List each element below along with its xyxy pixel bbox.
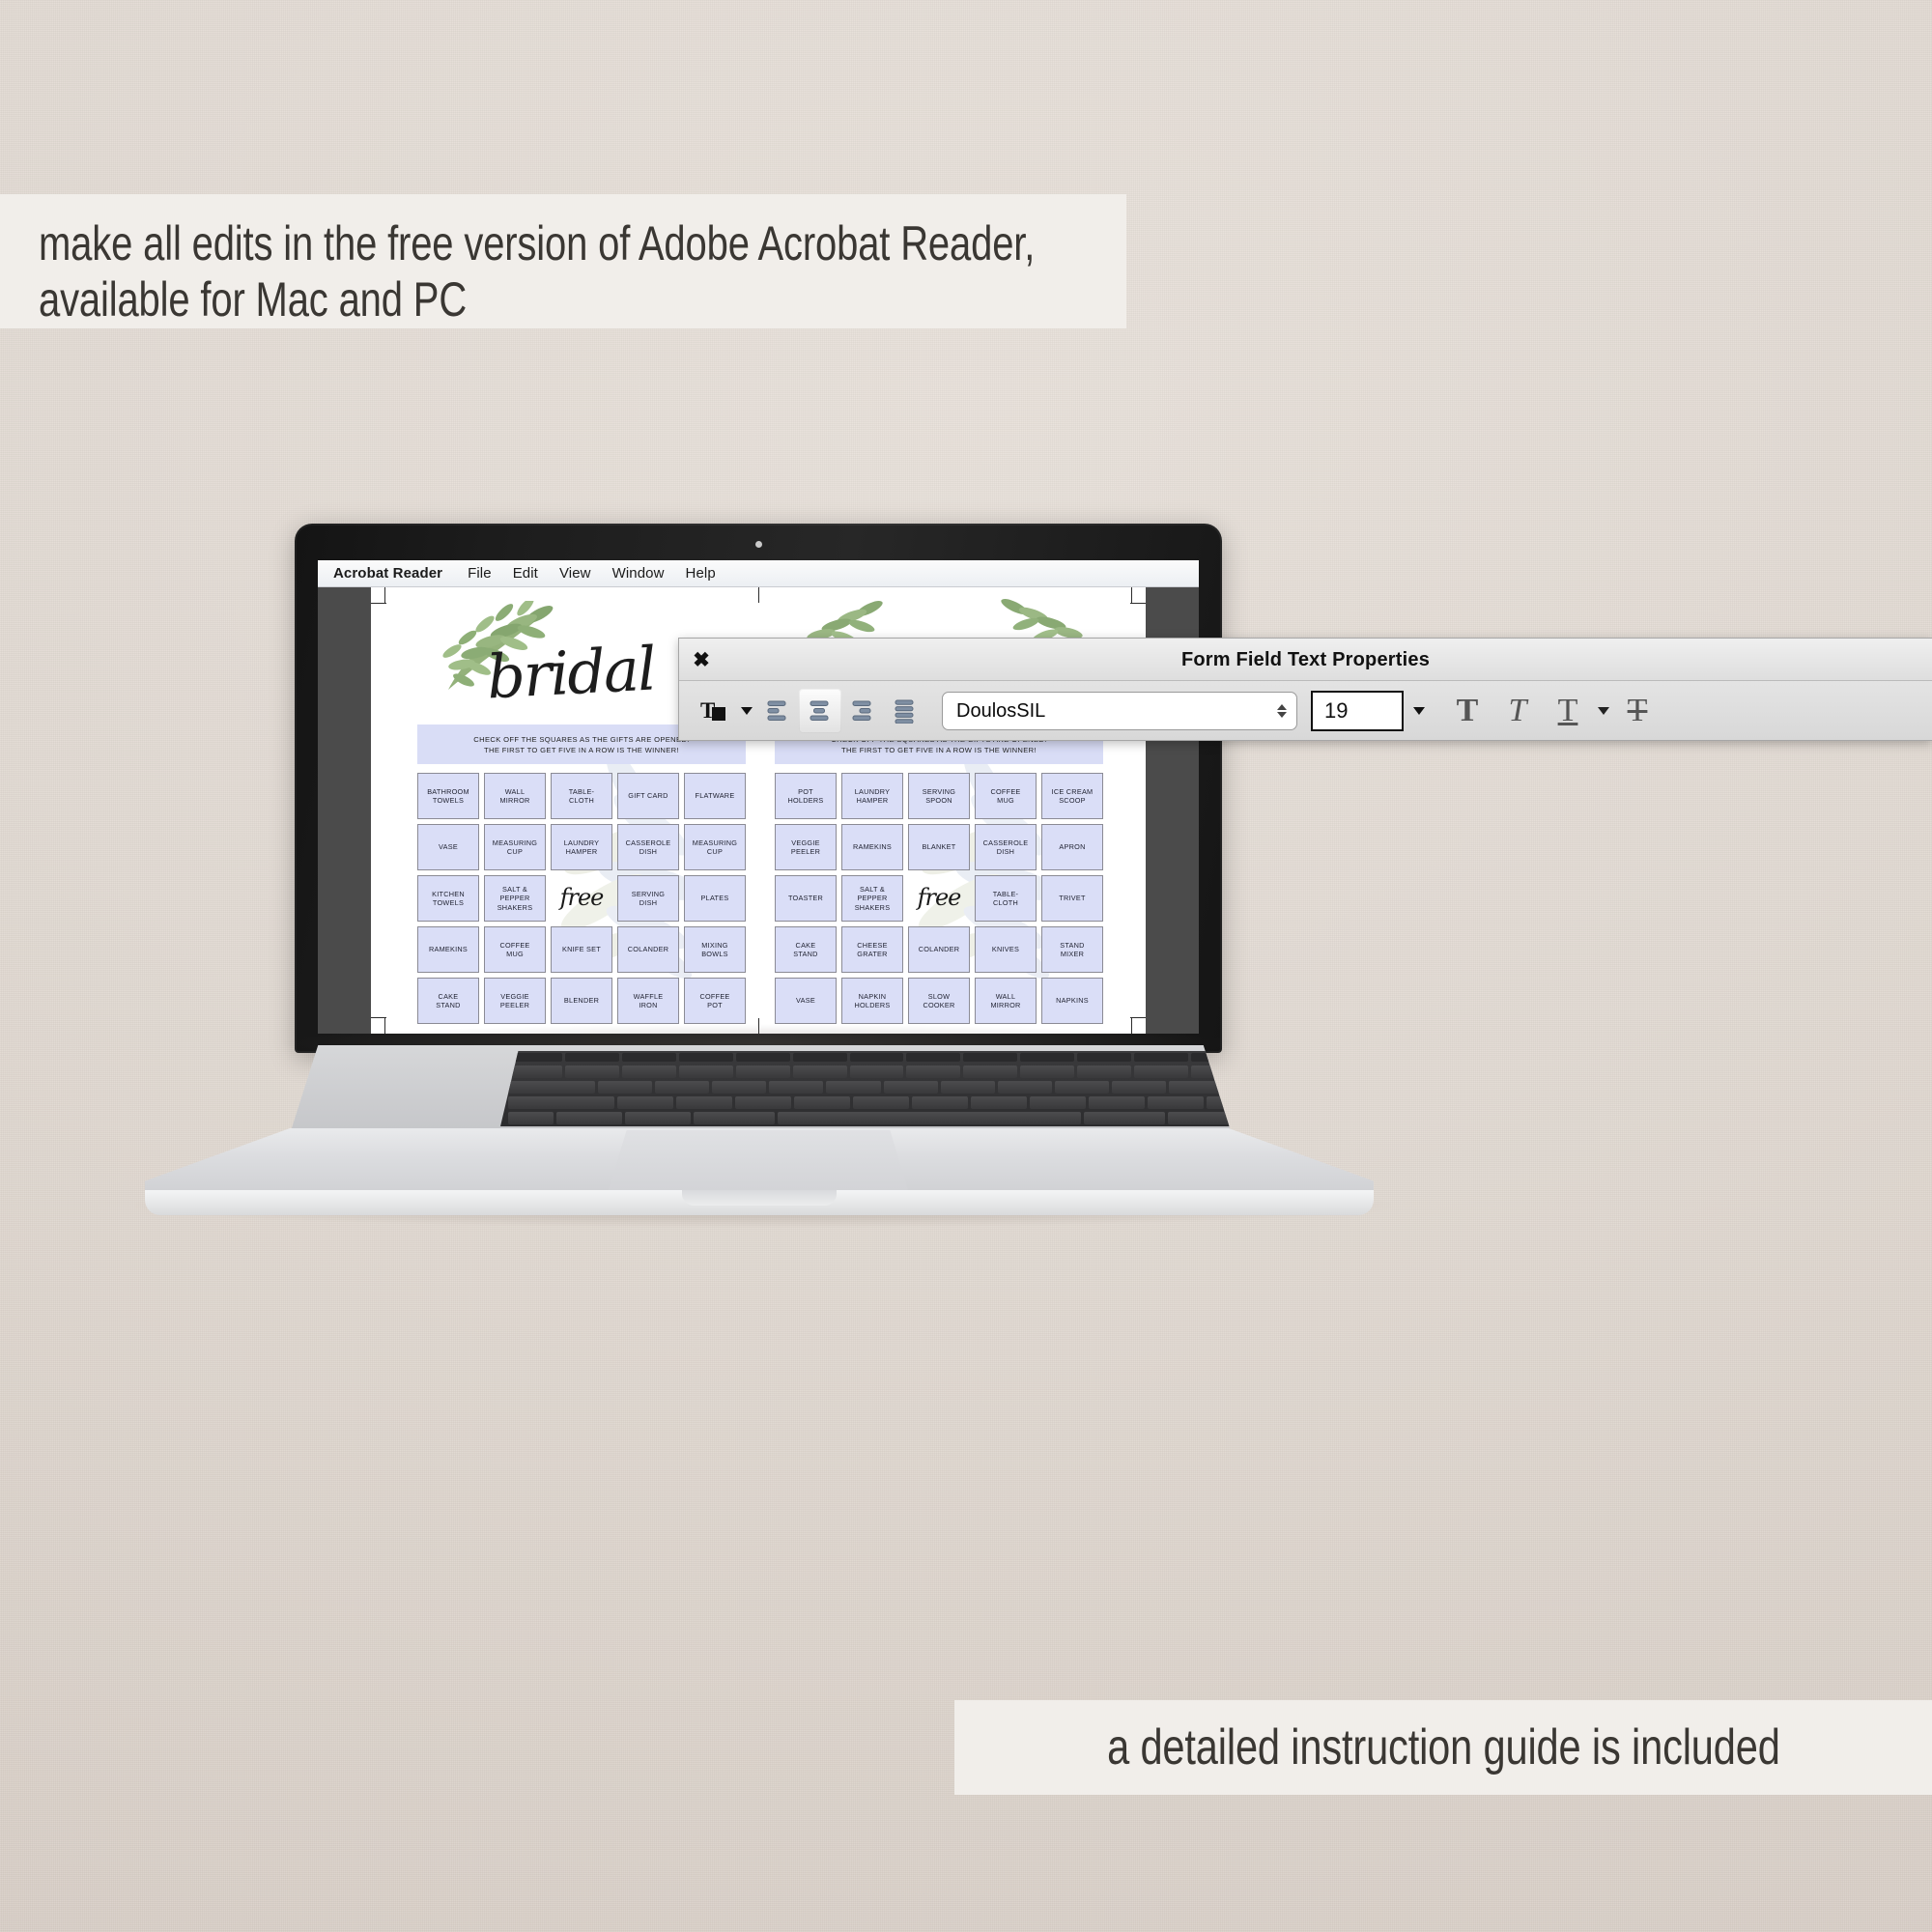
bingo-cell[interactable]: ICE CREAM SCOOP bbox=[1041, 773, 1103, 819]
bingo-cell-label: COFFEE MUG bbox=[499, 941, 529, 959]
bingo-cell-label: ICE CREAM SCOOP bbox=[1052, 787, 1094, 806]
bingo-cell[interactable]: WALL MIRROR bbox=[975, 978, 1037, 1024]
bingo-cell[interactable]: KITCHEN TOWELS bbox=[417, 875, 479, 922]
bingo-cell[interactable]: COLANDER bbox=[617, 926, 679, 973]
bingo-cell-label: CAKE STAND bbox=[436, 992, 460, 1010]
bingo-cell-label: CASSEROLE DISH bbox=[626, 838, 671, 857]
bingo-cell-label: BLENDER bbox=[564, 996, 599, 1005]
top-caption-banner: make all edits in the free version of Ad… bbox=[0, 194, 1126, 328]
bingo-cell[interactable]: POT HOLDERS bbox=[775, 773, 837, 819]
bingo-cell[interactable]: COLANDER bbox=[908, 926, 970, 973]
bingo-cell-label: VEGGIE PEELER bbox=[500, 992, 529, 1010]
bingo-cell-label: LAUNDRY HAMPER bbox=[855, 787, 891, 806]
align-justify-button[interactable] bbox=[884, 689, 926, 733]
bingo-cell[interactable]: TOASTER bbox=[775, 875, 837, 922]
font-size-dropdown-icon[interactable] bbox=[1413, 707, 1425, 715]
bingo-cell[interactable]: LAUNDRY HAMPER bbox=[841, 773, 903, 819]
bingo-cell-label: MEASURING CUP bbox=[693, 838, 737, 857]
bingo-cell-label: CASSEROLE DISH bbox=[983, 838, 1029, 857]
menu-item-file[interactable]: File bbox=[468, 565, 492, 582]
bingo-cell-label: SLOW COOKER bbox=[923, 992, 954, 1010]
bingo-cell[interactable]: COFFEE MUG bbox=[484, 926, 546, 973]
bingo-cell[interactable]: KNIVES bbox=[975, 926, 1037, 973]
bingo-cell-free[interactable]: free bbox=[551, 875, 612, 922]
crop-mark-tl-v bbox=[384, 587, 385, 603]
menu-item-acrobat-reader[interactable]: Acrobat Reader bbox=[333, 565, 442, 582]
bingo-cell-label: VEGGIE PEELER bbox=[791, 838, 820, 857]
bingo-cell-free[interactable]: free bbox=[908, 875, 970, 922]
bingo-grid-right[interactable]: POT HOLDERSLAUNDRY HAMPERSERVING SPOONCO… bbox=[775, 773, 1103, 1024]
bingo-cell-label: TOASTER bbox=[788, 894, 823, 902]
bingo-cell-label: PLATES bbox=[701, 894, 729, 902]
bingo-cell-label: SERVING DISH bbox=[632, 890, 665, 908]
bingo-cell[interactable]: SERVING DISH bbox=[617, 875, 679, 922]
bingo-cell[interactable]: WAFFLE IRON bbox=[617, 978, 679, 1024]
bingo-cell-label: CHEESE GRATER bbox=[857, 941, 888, 959]
bingo-cell-label: KNIVES bbox=[992, 945, 1019, 953]
bingo-cell-label: VASE bbox=[439, 842, 458, 851]
crop-mark-tr-h bbox=[1130, 603, 1146, 604]
bingo-cell[interactable]: RAMEKINS bbox=[417, 926, 479, 973]
bingo-cell[interactable]: MIXING BOWLS bbox=[684, 926, 746, 973]
chevron-updown-icon bbox=[1277, 704, 1287, 718]
bingo-cell-label: FLATWARE bbox=[696, 791, 735, 800]
keyboard[interactable] bbox=[500, 1051, 1310, 1126]
bingo-cell-label: SERVING SPOON bbox=[923, 787, 955, 806]
bingo-cell[interactable]: CASSEROLE DISH bbox=[617, 824, 679, 870]
bingo-cell[interactable]: BLENDER bbox=[551, 978, 612, 1024]
bingo-cell-label: free bbox=[560, 894, 604, 902]
bingo-cell-label: COLANDER bbox=[919, 945, 960, 953]
align-left-button[interactable] bbox=[756, 689, 799, 733]
bingo-cell-label: TABLE- CLOTH bbox=[993, 890, 1019, 908]
bingo-cell-label: WAFFLE IRON bbox=[634, 992, 664, 1010]
bingo-cell[interactable]: VEGGIE PEELER bbox=[484, 978, 546, 1024]
align-right-button[interactable] bbox=[841, 689, 884, 733]
bottom-caption-line-1: a detailed instruction guide is included bbox=[1107, 1719, 1780, 1776]
top-caption-line-2: available for Mac and PC bbox=[39, 271, 909, 327]
bingo-cell-label: COFFEE MUG bbox=[990, 787, 1020, 806]
dialog-toolbar[interactable]: T bbox=[679, 681, 1932, 741]
bingo-cell[interactable]: CAKE STAND bbox=[775, 926, 837, 973]
touch-bar[interactable] bbox=[500, 1053, 1310, 1062]
bingo-cell[interactable]: VASE bbox=[417, 824, 479, 870]
bingo-cell-label: TABLE- CLOTH bbox=[569, 787, 595, 806]
bingo-cell[interactable]: BATHROOM TOWELS bbox=[417, 773, 479, 819]
bingo-cell[interactable]: SLOW COOKER bbox=[908, 978, 970, 1024]
bingo-cell-label: POT HOLDERS bbox=[787, 787, 823, 806]
lid-notch bbox=[682, 1190, 837, 1206]
bingo-cell-label: RAMEKINS bbox=[853, 842, 892, 851]
bingo-cell[interactable]: SALT & PEPPER SHAKERS bbox=[841, 875, 903, 922]
instruction-line-2: THE FIRST TO GET FIVE IN A ROW IS THE WI… bbox=[423, 745, 740, 755]
bingo-cell[interactable]: SERVING SPOON bbox=[908, 773, 970, 819]
form-field-text-properties-dialog[interactable]: ✖ Form Field Text Properties T bbox=[678, 638, 1932, 741]
menu-item-view[interactable]: View bbox=[559, 565, 591, 582]
bingo-cell-label: NAPKIN HOLDERS bbox=[854, 992, 890, 1010]
bingo-cell[interactable]: VASE bbox=[775, 978, 837, 1024]
dialog-title: Form Field Text Properties bbox=[679, 649, 1932, 671]
strikethrough-button[interactable]: T bbox=[1612, 689, 1662, 733]
crop-mark-tl-h bbox=[371, 603, 386, 604]
bingo-cell-label: RAMEKINS bbox=[429, 945, 468, 953]
bingo-cell[interactable]: SALT & PEPPER SHAKERS bbox=[484, 875, 546, 922]
document-title-left: bridal bbox=[485, 634, 656, 713]
bingo-cell-label: TRIVET bbox=[1059, 894, 1085, 902]
underline-button[interactable]: T bbox=[1543, 689, 1593, 733]
bingo-cell-label: SALT & PEPPER SHAKERS bbox=[855, 885, 891, 912]
keyboard-row bbox=[500, 1081, 1310, 1094]
menu-item-help[interactable]: Help bbox=[686, 565, 716, 582]
bingo-cell-label: GIFT CARD bbox=[628, 791, 668, 800]
bingo-cell[interactable]: TABLE- CLOTH bbox=[551, 773, 612, 819]
bingo-grid-left[interactable]: BATHROOM TOWELSWALL MIRRORTABLE- CLOTHGI… bbox=[417, 773, 746, 1024]
bingo-cell[interactable]: NAPKINS bbox=[1041, 978, 1103, 1024]
bingo-cell[interactable]: LAUNDRY HAMPER bbox=[551, 824, 612, 870]
bingo-cell-label: BATHROOM TOWELS bbox=[427, 787, 469, 806]
bingo-cell[interactable]: KNIFE SET bbox=[551, 926, 612, 973]
font-family-value: DoulosSIL bbox=[956, 700, 1045, 723]
trackpad[interactable] bbox=[609, 1130, 908, 1190]
bingo-card-right: CHECK OFF THE SQUARES AS THE GIFTS ARE O… bbox=[775, 724, 1103, 1024]
bingo-cell[interactable]: WALL MIRROR bbox=[484, 773, 546, 819]
bingo-cell-label: COLANDER bbox=[628, 945, 669, 953]
bingo-cell[interactable]: TRIVET bbox=[1041, 875, 1103, 922]
menubar[interactable]: Acrobat Reader File Edit View Window Hel… bbox=[318, 560, 1199, 587]
bingo-cell-label: free bbox=[918, 894, 961, 902]
bingo-cell[interactable]: VEGGIE PEELER bbox=[775, 824, 837, 870]
bingo-cell-label: WALL MIRROR bbox=[990, 992, 1020, 1010]
bold-button[interactable]: T bbox=[1442, 689, 1492, 733]
laptop-lid: Acrobat Reader File Edit View Window Hel… bbox=[295, 524, 1222, 1053]
bingo-cell-label: LAUNDRY HAMPER bbox=[564, 838, 600, 857]
crop-mark-bl-h bbox=[371, 1017, 386, 1018]
top-caption-line-1: make all edits in the free version of Ad… bbox=[39, 215, 909, 271]
instruction-line-2: THE FIRST TO GET FIVE IN A ROW IS THE WI… bbox=[781, 745, 1097, 755]
font-family-select[interactable]: DoulosSIL bbox=[942, 692, 1297, 730]
bingo-card-left: CHECK OFF THE SQUARES AS THE GIFTS ARE O… bbox=[417, 724, 746, 1024]
bingo-cell-label: CAKE STAND bbox=[793, 941, 817, 959]
font-size-input[interactable]: 19 bbox=[1311, 691, 1404, 731]
laptop-base bbox=[145, 1045, 1374, 1211]
bingo-cell-label: STAND MIXER bbox=[1060, 941, 1084, 959]
bingo-cell[interactable]: CAKE STAND bbox=[417, 978, 479, 1024]
font-size-value: 19 bbox=[1324, 698, 1348, 724]
bingo-cell[interactable]: PLATES bbox=[684, 875, 746, 922]
bingo-cell-label: KITCHEN TOWELS bbox=[432, 890, 465, 908]
bingo-cell-label: COFFEE POT bbox=[699, 992, 729, 1010]
keyboard-deck bbox=[290, 1045, 1232, 1134]
dialog-titlebar: ✖ Form Field Text Properties bbox=[679, 639, 1932, 681]
bingo-cell[interactable]: BLANKET bbox=[908, 824, 970, 870]
bingo-cell-label: APRON bbox=[1059, 842, 1085, 851]
text-color-icon[interactable]: T bbox=[693, 689, 735, 733]
bingo-cell[interactable]: STAND MIXER bbox=[1041, 926, 1103, 973]
menu-item-window[interactable]: Window bbox=[612, 565, 665, 582]
bingo-cell[interactable]: FLATWARE bbox=[684, 773, 746, 819]
bingo-cell-label: BLANKET bbox=[922, 842, 955, 851]
menu-item-edit[interactable]: Edit bbox=[513, 565, 538, 582]
webcam-icon bbox=[755, 541, 762, 548]
bingo-cell-label: KNIFE SET bbox=[562, 945, 601, 953]
crop-mark-br-h bbox=[1130, 1017, 1146, 1018]
bingo-cell[interactable]: TABLE- CLOTH bbox=[975, 875, 1037, 922]
underline-dropdown-icon[interactable] bbox=[1593, 689, 1612, 733]
bingo-cell-label: VASE bbox=[796, 996, 815, 1005]
crop-mark-mid-top bbox=[758, 587, 759, 603]
bingo-cell[interactable]: APRON bbox=[1041, 824, 1103, 870]
bingo-cell[interactable]: MEASURING CUP bbox=[484, 824, 546, 870]
bingo-cell-label: NAPKINS bbox=[1056, 996, 1089, 1005]
bingo-cell[interactable]: MEASURING CUP bbox=[684, 824, 746, 870]
chevron-down-icon bbox=[741, 707, 753, 715]
bingo-cell-label: WALL MIRROR bbox=[499, 787, 529, 806]
chevron-down-icon bbox=[1598, 707, 1609, 715]
bingo-cell-label: MIXING BOWLS bbox=[701, 941, 728, 959]
laptop-screen: Acrobat Reader File Edit View Window Hel… bbox=[318, 560, 1199, 1034]
bingo-cell[interactable]: RAMEKINS bbox=[841, 824, 903, 870]
bingo-cell-label: SALT & PEPPER SHAKERS bbox=[497, 885, 533, 912]
bingo-cell[interactable]: CHEESE GRATER bbox=[841, 926, 903, 973]
bingo-cell[interactable]: GIFT CARD bbox=[617, 773, 679, 819]
align-center-button[interactable] bbox=[799, 689, 841, 733]
bingo-cell[interactable]: CASSEROLE DISH bbox=[975, 824, 1037, 870]
keyboard-row bbox=[500, 1096, 1310, 1109]
bingo-cell[interactable]: COFFEE POT bbox=[684, 978, 746, 1024]
keyboard-row bbox=[500, 1065, 1310, 1078]
keyboard-row bbox=[500, 1112, 1310, 1124]
text-color-dropdown-icon[interactable] bbox=[735, 689, 756, 733]
bottom-caption-banner: a detailed instruction guide is included bbox=[954, 1700, 1932, 1795]
bingo-cell[interactable]: NAPKIN HOLDERS bbox=[841, 978, 903, 1024]
bingo-cell[interactable]: COFFEE MUG bbox=[975, 773, 1037, 819]
italic-button[interactable]: T bbox=[1492, 689, 1543, 733]
bingo-cell-label: MEASURING CUP bbox=[493, 838, 537, 857]
crop-mark-tr-v bbox=[1131, 587, 1132, 603]
